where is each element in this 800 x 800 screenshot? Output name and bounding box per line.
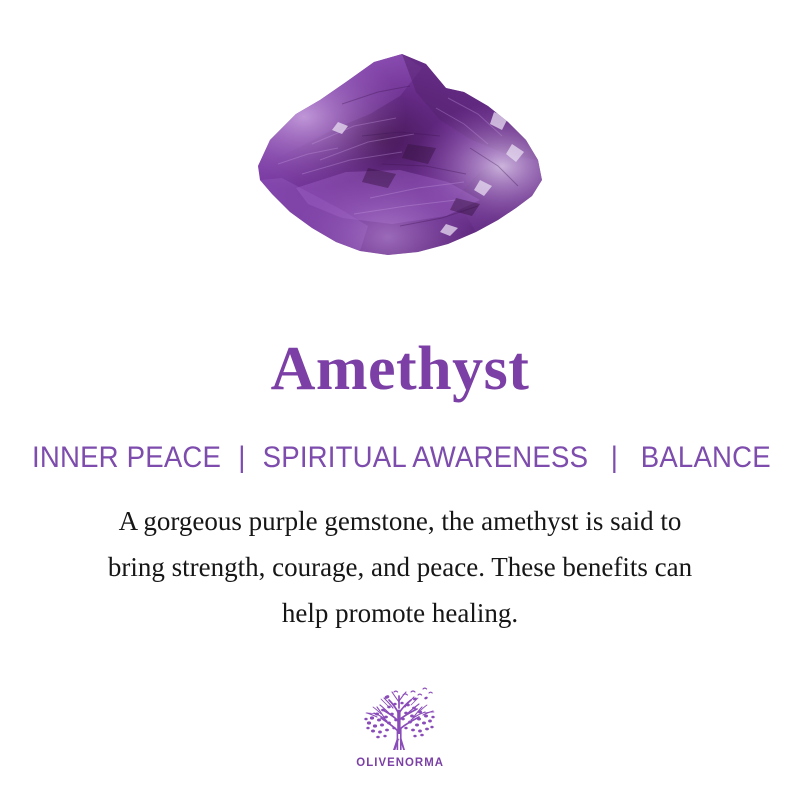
keyword-inner-peace: INNER PEACE xyxy=(32,441,221,474)
olive-tree-icon xyxy=(357,684,443,752)
keyword-list: INNER PEACE | SPIRITUAL AWARENESS | BALA… xyxy=(32,440,768,476)
keyword-balance: BALANCE xyxy=(641,441,771,474)
keyword-separator-2: | xyxy=(611,440,618,476)
keyword-separator-1: | xyxy=(238,440,245,476)
brand-wordmark: OLIVENORMA xyxy=(356,755,444,769)
description-text: A gorgeous purple gemstone, the amethyst… xyxy=(50,498,750,636)
description-line-2: bring strength, courage, and peace. Thes… xyxy=(50,544,750,590)
hero-image-container xyxy=(0,0,800,310)
amethyst-crystal-image xyxy=(250,48,550,263)
keyword-spiritual-awareness: SPIRITUAL AWARENESS xyxy=(263,441,589,474)
brand-logo: OLIVENORMA xyxy=(0,684,800,769)
gemstone-title: Amethyst xyxy=(0,336,800,402)
amethyst-info-card: Amethyst INNER PEACE | SPIRITUAL AWARENE… xyxy=(0,0,800,800)
description-line-1: A gorgeous purple gemstone, the amethyst… xyxy=(50,498,750,544)
description-line-3: help promote healing. xyxy=(50,590,750,636)
